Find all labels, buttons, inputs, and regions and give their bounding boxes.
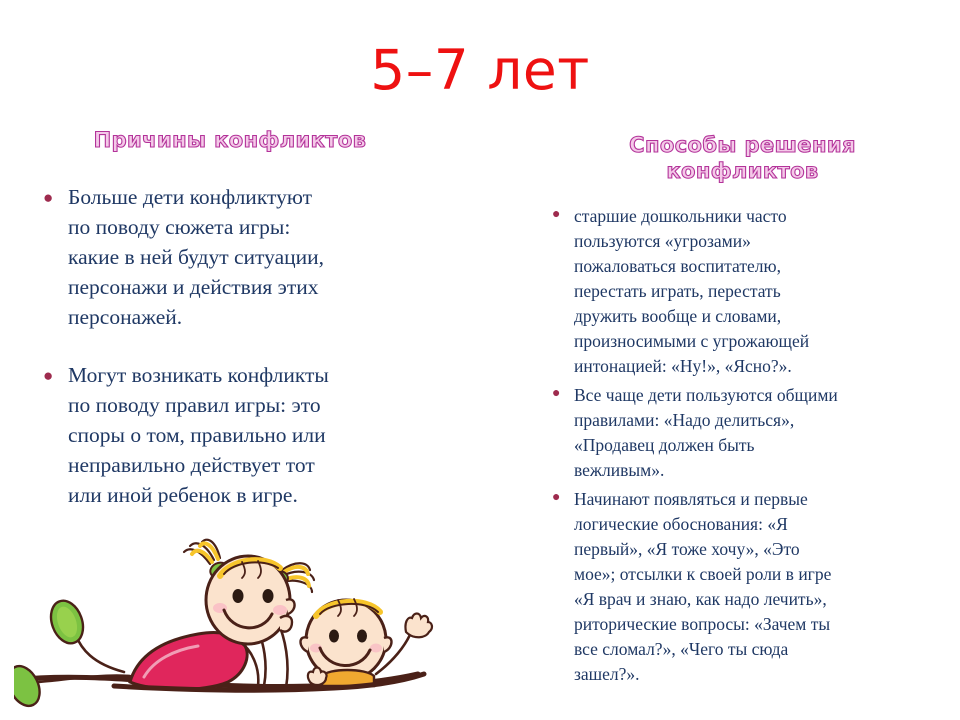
girl-eye-right xyxy=(263,589,274,603)
list-item-text: старшие дошкольники часто пользуются «уг… xyxy=(574,204,948,379)
bullet-dot-icon: ● xyxy=(43,367,53,384)
boy-waving-hand xyxy=(405,614,431,638)
list-item: ● Больше дети конфликтуют по поводу сюже… xyxy=(40,182,460,332)
list-item-text: Больше дети конфликтуют по поводу сюжета… xyxy=(68,182,460,332)
list-item: ● старшие дошкольники часто пользуются «… xyxy=(548,204,948,379)
list-item: ● Начинают появляться и первые логически… xyxy=(548,487,948,687)
bullet-dot-icon: ● xyxy=(552,387,560,401)
list-item-text: Все чаще дети пользуются общими правилам… xyxy=(574,383,948,483)
list-item: ● Все чаще дети пользуются общими правил… xyxy=(548,383,948,483)
right-column-bullet-list: ● старшие дошкольники часто пользуются «… xyxy=(548,204,948,691)
boy-ear-left xyxy=(301,637,309,652)
list-item-text: Начинают появляться и первые логические … xyxy=(574,487,948,687)
girl-hand xyxy=(280,616,292,632)
girl-shoe-lower xyxy=(14,661,46,711)
boy-eye-left xyxy=(329,630,339,643)
list-item-text: Могут возникать конфликты по поводу прав… xyxy=(68,360,460,510)
bullet-dot-icon: ● xyxy=(43,189,53,206)
girl-eye-left xyxy=(233,589,244,603)
list-item: ● Могут возникать конфликты по поводу пр… xyxy=(40,360,460,510)
girl-cheek-right xyxy=(273,605,287,615)
left-column-heading: Причины конфликтов xyxy=(30,128,430,154)
children-illustration xyxy=(14,534,454,720)
left-column-bullet-list: ● Больше дети конфликтуют по поводу сюже… xyxy=(40,182,460,538)
children-illustration-graphic xyxy=(14,534,454,720)
bullet-dot-icon: ● xyxy=(552,491,560,505)
page-title: 5–7 лет xyxy=(0,42,960,100)
boy-ear-right xyxy=(384,637,392,652)
bullet-dot-icon: ● xyxy=(552,208,560,222)
boy-cheek-right xyxy=(370,644,382,653)
right-column-heading: Способы решения конфликтов xyxy=(545,133,940,184)
boy-eye-right xyxy=(357,630,367,643)
slide-canvas: 5–7 лет Причины конфликтов Способы решен… xyxy=(0,0,960,720)
